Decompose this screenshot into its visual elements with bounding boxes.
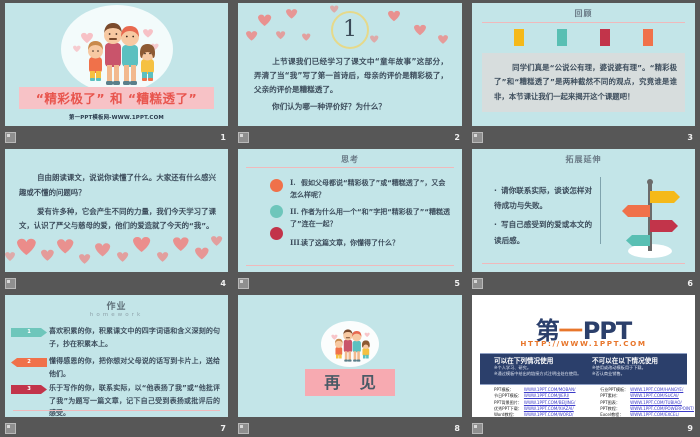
family-illustration: [65, 13, 169, 93]
slide-number-2: 2: [454, 133, 462, 142]
question-numeral-2: II.: [290, 206, 301, 218]
slide-thumbnail-icon: [5, 132, 16, 143]
slide-footer-4: 4: [0, 274, 233, 292]
slide-footer-1: 1: [0, 128, 233, 146]
bullet-dot-1: [270, 179, 283, 192]
question-text-3: 读了这篇文章，你懂得了什么？: [301, 239, 399, 247]
slide-cell-2[interactable]: 1 上节课我们已经学习了课文中“童年故事”这部分，弄清了当“我”写了第一首诗后，…: [233, 0, 467, 146]
question-numeral-3: III.: [290, 237, 301, 249]
slide-5-heading: 思考: [238, 154, 462, 165]
slide-4-paragraph-2: 爱有许多种，它会产生不同的力量，我们今天学习了课文，认识了严父与慈母的爱，他们的…: [19, 207, 216, 231]
slide-7-item-3: 乐于写作的你，联系实际，以“他表扬了我”或“他批评了我”为题写一篇文章，记下自己…: [49, 382, 220, 417]
slide-3-body: 同学们真是“公说公有理，婆说婆有理”。“精彩极了”和“糟糕透了”是两种截然不同的…: [494, 61, 677, 104]
bullet-dot-3: [270, 227, 283, 240]
slide-6-bullets: ·请你联系实际，谈谈怎样对待成功与失败。 ·写自己感受到的爱或本文的读后感。: [494, 183, 599, 248]
family-illustration: [323, 323, 377, 367]
allow-title: 可以在下列情况使用: [494, 355, 589, 365]
heading-divider: [482, 22, 685, 23]
right-link-column: 行业PPT模板： PPT素材： PPT图表： PPT教程： Excel教程： P…: [600, 387, 694, 417]
slide-2-badge: 1: [331, 11, 369, 49]
slide-6[interactable]: 拓展延伸 ·请你联系实际，谈谈怎样对待成功与失败。 ·写自己感受到的爱或本文的读…: [472, 149, 695, 272]
resource-link[interactable]: WWW.1PPT.COM/WORD/: [524, 412, 590, 417]
slide-thumbnail-icon: [5, 423, 16, 434]
slide-number-3: 3: [687, 133, 695, 142]
slide-5-question-3: III.读了这篇文章，你懂得了什么？: [290, 237, 452, 249]
item-tag-3: 3: [11, 385, 47, 394]
slide-7-item-1: 喜欢积累的你，积累课文中的四字词语和含义深刻的句子，抄在积累本上。: [49, 325, 220, 350]
slide-5-question-2: II.作者为什么用一个“和”字把“精彩极了”“糟糕透了”连在一起？: [290, 206, 452, 231]
deny-item-2: ※否认商业销售。: [592, 371, 687, 377]
slide-cell-1[interactable]: “精彩极了” 和 “糟糕透了” 第一PPT模板网-WWW.1PPT.COM 1: [0, 0, 233, 146]
slide-7-subheading: homework: [5, 312, 228, 318]
slide-number-8: 8: [454, 424, 462, 433]
slide-3[interactable]: 回顾 同学们真是“公说公有理，婆说婆有理”。“精彩极了”和“糟糕透了”是两种截然…: [472, 3, 695, 126]
slide-2-paragraph-1: 上节课我们已经学习了课文中“童年故事”这部分，弄清了当“我”写了第一首诗后，母亲…: [254, 57, 448, 94]
slide-8-title: 再 见: [305, 371, 395, 394]
slide-5[interactable]: 思考 I.假如父母都说“精彩极了”或“糟糕透了”，又会怎么样呢？ II.作者为什…: [238, 149, 462, 272]
slide-cell-8[interactable]: 再 见 8: [233, 292, 467, 437]
vertical-divider: [600, 177, 601, 244]
slide-8[interactable]: 再 见: [238, 295, 462, 417]
item-tag-3-label: 3: [11, 385, 47, 394]
link-label: Excel教程：: [600, 412, 628, 417]
slide-cell-5[interactable]: 思考 I.假如父母都说“精彩极了”或“糟糕透了”，又会怎么样呢？ II.作者为什…: [233, 146, 467, 292]
slide-7-heading: 作业: [5, 299, 228, 312]
question-text-1: 假如父母都说“精彩极了”或“糟糕透了”，又会怎么样呢？: [290, 179, 445, 199]
slide-thumbnail-grid: “精彩极了” 和 “糟糕透了” 第一PPT模板网-WWW.1PPT.COM 1: [0, 0, 700, 437]
slide-thumbnail-icon: [472, 132, 483, 143]
heading-divider: [246, 167, 454, 168]
item-tag-2: 2: [11, 358, 47, 367]
chip-crimson: [600, 29, 610, 46]
footer-divider: [246, 265, 454, 266]
slide-7[interactable]: 作业 homework 1 喜欢积累的你，积累课文中的四字词语和含义深刻的句子，…: [5, 295, 228, 417]
slide-5-question-1: I.假如父母都说“精彩极了”或“糟糕透了”，又会怎么样呢？: [290, 177, 452, 202]
item-tag-1: 1: [11, 328, 47, 337]
chip-teal: [557, 29, 567, 46]
slide-footer-3: 3: [467, 128, 700, 146]
brand-url: HTTP://WWW.1PPT.COM: [472, 339, 695, 348]
slide-thumbnail-icon: [472, 423, 483, 434]
link-label: Word教程：: [494, 412, 522, 417]
slide-6-heading: 拓展延伸: [472, 154, 695, 165]
slide-footer-8: 8: [233, 419, 467, 437]
slide-9[interactable]: 第一PPT HTTP://WWW.1PPT.COM 可以在下列情况使用 ※个人学…: [472, 295, 695, 417]
slide-7-item-2: 懂得感恩的你，把你想对父母说的话写到卡片上，送给他们。: [49, 355, 220, 380]
slide-number-6: 6: [687, 279, 695, 288]
slide-number-5: 5: [454, 279, 462, 288]
slide-cell-7[interactable]: 作业 homework 1 喜欢积累的你，积累课文中的四字词语和含义深刻的句子，…: [0, 292, 233, 437]
slide-thumbnail-icon: [238, 423, 249, 434]
question-numeral-1: I.: [290, 177, 301, 189]
slide-number-1: 1: [220, 133, 228, 142]
question-text-2: 作者为什么用一个“和”字把“精彩极了”“糟糕透了”连在一起？: [290, 208, 450, 228]
allow-item-2: ※通过模板中给出的链接方式注明出处在使用。: [494, 371, 589, 377]
slide-footer-7: 7: [0, 419, 233, 437]
resource-link[interactable]: WWW.1PPT.COM/EXCEL/: [630, 412, 694, 417]
slide-cell-6[interactable]: 拓展延伸 ·请你联系实际，谈谈怎样对待成功与失败。 ·写自己感受到的爱或本文的读…: [467, 146, 700, 292]
chip-orange: [643, 29, 653, 46]
slide-number-9: 9: [687, 424, 695, 433]
allow-column: 可以在下列情况使用 ※个人学习、研究。 ※通过模板中给出的链接方式注明出处在使用…: [494, 355, 589, 378]
slide-2-paragraph-2: 你们认为哪一种评价好？为什么？: [272, 102, 386, 111]
deny-title: 不可以在以下情况使用: [592, 355, 687, 365]
slide-number-7: 7: [220, 424, 228, 433]
slide-thumbnail-icon: [238, 278, 249, 289]
hearts-decoration-bottom: [5, 232, 228, 272]
deny-column: 不可以在以下情况使用 ※使用或改动模板用于下载。 ※否认商业销售。: [592, 355, 687, 378]
slide-footer-2: 2: [233, 128, 467, 146]
slide-thumbnail-icon: [5, 278, 16, 289]
slide-cell-3[interactable]: 回顾 同学们真是“公说公有理，婆说婆有理”。“精彩极了”和“糟糕透了”是两种截然…: [467, 0, 700, 146]
slide-6-bullet-2: 写自己感受到的爱或本文的读后感。: [494, 220, 592, 244]
slide-3-body-text: 同学们真是“公说公有理，婆说婆有理”。“精彩极了”和“糟糕透了”是两种截然不同的…: [494, 63, 677, 101]
slide-cell-9[interactable]: 第一PPT HTTP://WWW.1PPT.COM 可以在下列情况使用 ※个人学…: [467, 292, 700, 437]
signpost-illustration: [614, 175, 686, 261]
slide-2-body: 上节课我们已经学习了课文中“童年故事”这部分，弄清了当“我”写了第一首诗后，母亲…: [254, 55, 448, 114]
footer-divider: [13, 410, 220, 411]
left-link-column: PPT模板： 节日PPT模板： PPT背景图片： 优秀PPT下载： Word教程…: [494, 387, 590, 417]
chip-yellow: [514, 29, 524, 46]
color-chip-row: [472, 29, 695, 46]
slide-6-bullet-1: 请你联系实际，谈谈怎样对待成功与失败。: [494, 186, 592, 210]
slide-4[interactable]: 自由朗读课文，说说你读懂了什么。大家还有什么感兴趣或不懂的问题吗？ 爱有许多种，…: [5, 149, 228, 272]
item-tag-1-label: 1: [11, 328, 47, 337]
link-label: 节日PPT模板：: [494, 393, 522, 399]
slide-1-subtitle: 第一PPT模板网-WWW.1PPT.COM: [5, 113, 228, 121]
slide-4-body: 自由朗读课文，说说你读懂了什么。大家还有什么感兴趣或不懂的问题吗？ 爱有许多种，…: [19, 171, 216, 234]
slide-thumbnail-icon: [472, 278, 483, 289]
slide-footer-6: 6: [467, 274, 700, 292]
slide-1-title: “精彩极了” 和 “糟糕透了”: [5, 89, 228, 108]
resource-link-columns: PPT模板： 节日PPT模板： PPT背景图片： 优秀PPT下载： Word教程…: [494, 387, 685, 417]
item-tag-2-label: 2: [11, 358, 47, 367]
bullet-dot-2: [270, 205, 283, 218]
slide-cell-4[interactable]: 自由朗读课文，说说你读懂了什么。大家还有什么感兴趣或不懂的问题吗？ 爱有许多种，…: [0, 146, 233, 292]
slide-thumbnail-icon: [238, 132, 249, 143]
slide-2[interactable]: 1 上节课我们已经学习了课文中“童年故事”这部分，弄清了当“我”写了第一首诗后，…: [238, 3, 462, 126]
slide-footer-5: 5: [233, 274, 467, 292]
slide-1[interactable]: “精彩极了” 和 “糟糕透了” 第一PPT模板网-WWW.1PPT.COM: [5, 3, 228, 126]
slide-4-paragraph-1: 自由朗读课文，说说你读懂了什么。大家还有什么感兴趣或不懂的问题吗？: [19, 173, 216, 197]
slide-3-heading: 回顾: [472, 8, 695, 19]
footer-divider: [482, 263, 685, 264]
slide-footer-9: 9: [467, 419, 700, 437]
slide-number-4: 4: [220, 279, 228, 288]
